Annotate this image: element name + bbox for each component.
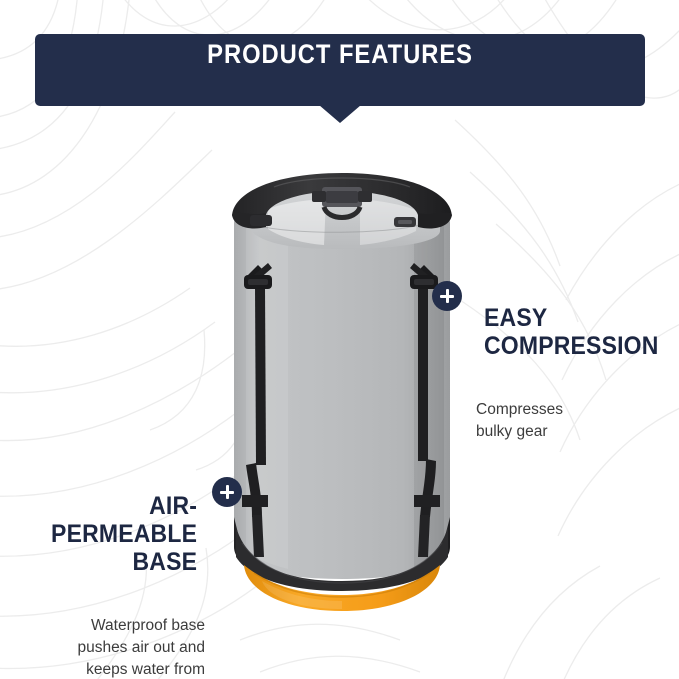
sack-body (234, 193, 450, 579)
callout-body-easy-compression: Compresses bulky gear (476, 399, 676, 443)
infographic-canvas: PRODUCT FEATURES (0, 0, 679, 679)
callout-easy-compression: EASY COMPRESSION Compresses bulky gear (476, 276, 676, 443)
plus-icon-air-permeable-base[interactable] (212, 477, 242, 507)
product-image-compression-sack (228, 165, 456, 617)
banner-pointer-tail (319, 105, 361, 123)
side-buckle-right (394, 217, 416, 227)
side-buckle-left (250, 215, 272, 226)
page-title: PRODUCT FEATURES (35, 55, 645, 86)
callout-body-air-permeable-base: Waterproof base pushes air out and keeps… (8, 615, 205, 679)
callout-heading-air-permeable-base: AIR-PERMEABLE BASE (8, 464, 205, 604)
callout-air-permeable-base: AIR-PERMEABLE BASE Waterproof base pushe… (8, 464, 205, 679)
page-title-text: PRODUCT FEATURES (207, 39, 473, 70)
callout-heading-easy-compression: EASY COMPRESSION (476, 276, 676, 388)
header-banner: PRODUCT FEATURES (35, 34, 645, 106)
plus-icon-easy-compression[interactable] (432, 281, 462, 311)
